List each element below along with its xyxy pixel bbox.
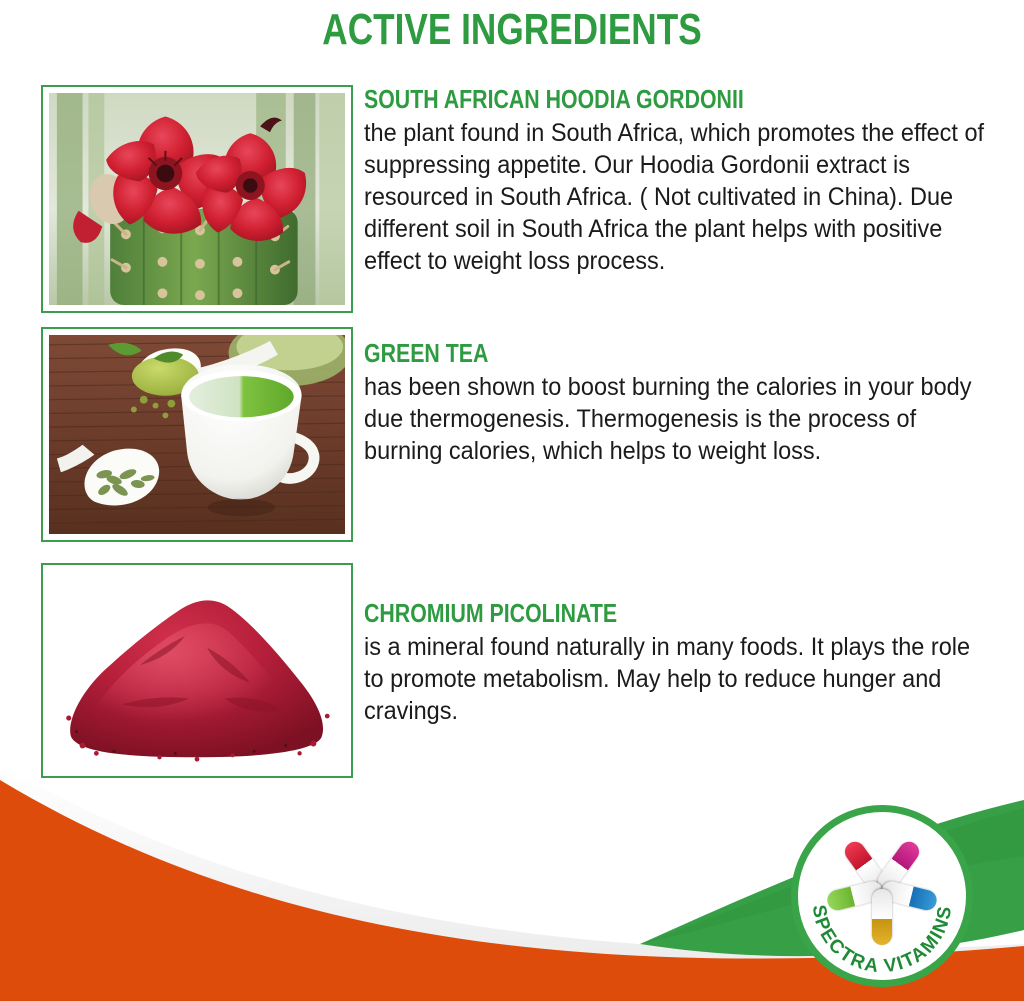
page-title: ACTIVE INGREDIENTS xyxy=(102,6,921,54)
ingredient-photo-frame xyxy=(41,85,353,313)
ingredient-description: the plant found in South Africa, which p… xyxy=(364,117,984,277)
ingredient-text-block: SOUTH AFRICAN HOODIA GORDONII the plant … xyxy=(364,85,984,277)
green-tea-photo-graphic xyxy=(49,335,345,534)
logo-text: SPECTRA VITAMINS xyxy=(808,904,957,978)
green-tea-photo xyxy=(49,335,345,534)
infographic-page: ACTIVE INGREDIENTS xyxy=(0,0,1024,1001)
hoodia-gordonii-photo xyxy=(49,93,345,305)
ingredient-name: CHROMIUM PICOLINATE xyxy=(364,599,872,627)
spectra-vitamins-logo[interactable]: SPECTRA VITAMINS xyxy=(791,805,973,987)
ingredient-name: GREEN TEA xyxy=(364,339,872,367)
ingredient-description: has been shown to boost burning the calo… xyxy=(364,371,984,467)
ingredient-name: SOUTH AFRICAN HOODIA GORDONII xyxy=(364,85,872,113)
chromium-photo-graphic xyxy=(49,571,345,770)
logo-text-arc: SPECTRA VITAMINS xyxy=(791,805,973,987)
hoodia-photo-graphic xyxy=(49,93,345,305)
ingredient-text-block: CHROMIUM PICOLINATE is a mineral found n… xyxy=(364,599,984,727)
ingredient-text-block: GREEN TEA has been shown to boost burnin… xyxy=(364,339,984,467)
ingredient-photo-frame xyxy=(41,327,353,542)
ingredient-photo-frame xyxy=(41,563,353,778)
chromium-picolinate-photo xyxy=(49,571,345,770)
ingredient-description: is a mineral found naturally in many foo… xyxy=(364,631,984,727)
